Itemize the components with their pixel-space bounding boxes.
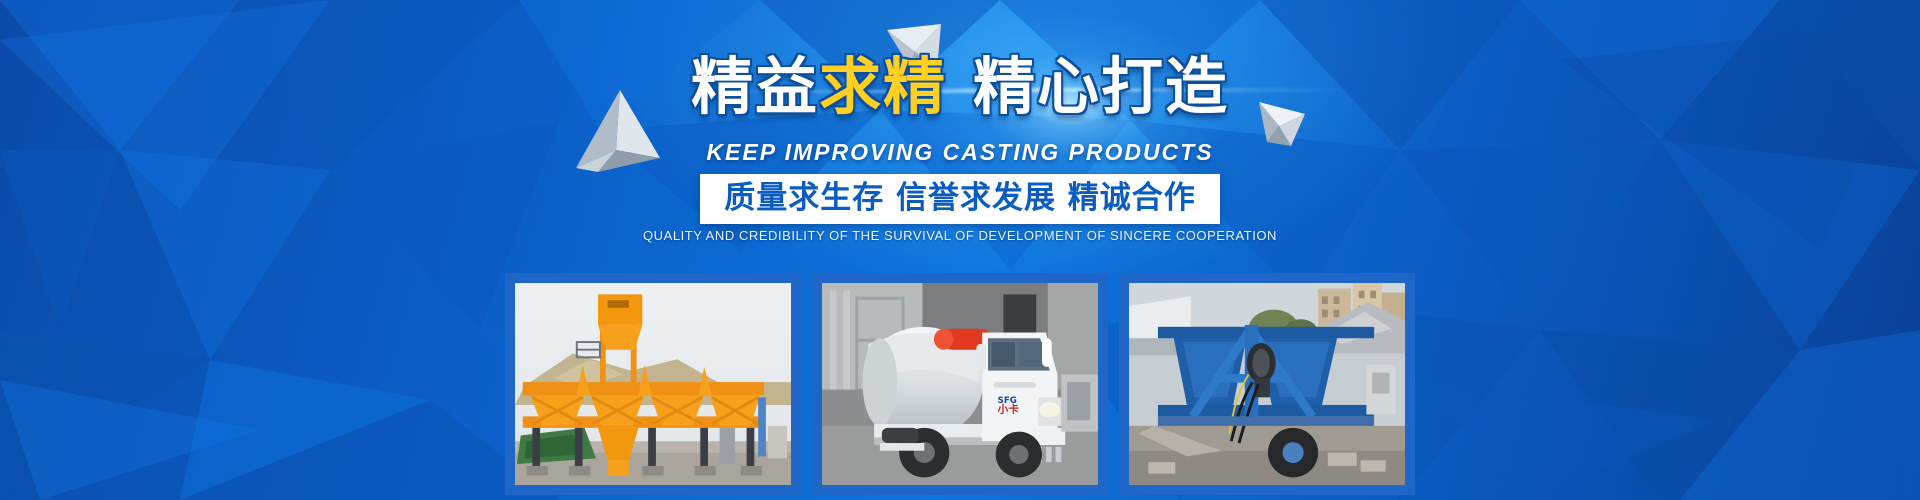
svg-text:小卡: 小卡: [997, 403, 1020, 416]
photo-1-image: [515, 283, 791, 485]
photo-1-alt: Orange concrete batching plant with aggr…: [510, 278, 511, 279]
headline-part2: 求精: [819, 52, 947, 122]
headline-english-subtitle: KEEP IMPROVING CASTING PRODUCTS: [0, 139, 1920, 166]
photo-concrete-mixer-truck: White concrete mixer truck parked in a y…: [812, 273, 1108, 495]
photo-3-image: [1129, 283, 1405, 485]
headline-part1: 精益: [691, 52, 819, 122]
tagline-chinese: 质量求生存 信誉求发展 精诚合作: [700, 174, 1220, 224]
photo-3-alt: Blue aggregate batching machine with con…: [1124, 278, 1125, 279]
photo-2-alt: White concrete mixer truck parked in a y…: [817, 278, 818, 279]
tagline-container: 质量求生存 信誉求发展 精诚合作: [0, 174, 1920, 224]
tagline-english: QUALITY AND CREDIBILITY OF THE SURVIVAL …: [0, 228, 1920, 243]
promo-banner: 精益求精精心打造 KEEP IMPROVING CASTING PRODUCTS…: [0, 0, 1920, 500]
photo-2-image: SFG 小卡: [822, 283, 1098, 485]
photo-concrete-batching-plant: Orange concrete batching plant with aggr…: [505, 273, 801, 495]
photo-strip: Orange concrete batching plant with aggr…: [505, 273, 1415, 495]
photo-blue-batching-machine: Blue aggregate batching machine with con…: [1119, 273, 1415, 495]
headline: 精益求精精心打造: [0, 52, 1920, 122]
headline-part3: 精心打造: [973, 52, 1229, 122]
